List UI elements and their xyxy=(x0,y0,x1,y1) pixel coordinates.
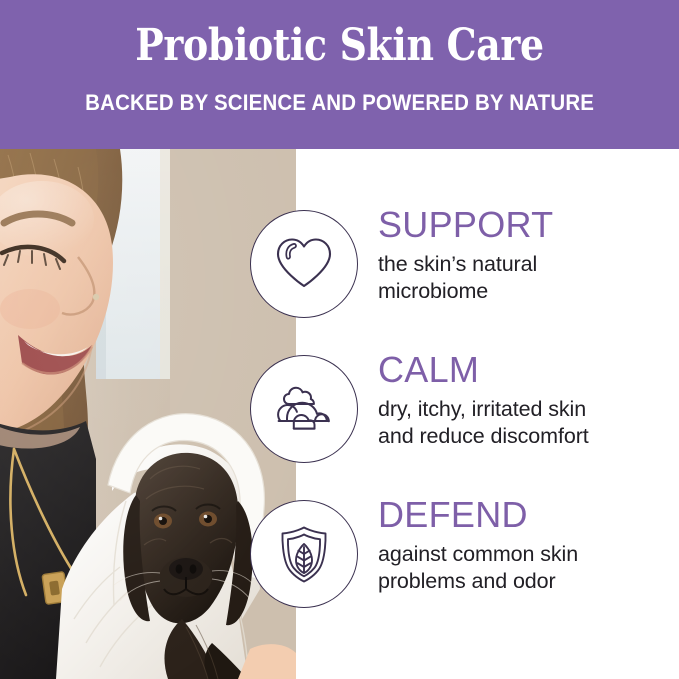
feature-support-text: SUPPORT the skin’s natural microbiome xyxy=(378,206,674,306)
feature-support-body-line-1: the skin’s natural xyxy=(378,251,674,279)
product-infographic: Probiotic Skin Care BACKED BY SCIENCE AN… xyxy=(0,0,679,679)
feature-calm-body-line-2: and reduce discomfort xyxy=(378,423,674,451)
feature-support-body: the skin’s natural microbiome xyxy=(378,251,674,306)
feature-calm-body-line-1: dry, itchy, irritated skin xyxy=(378,396,674,424)
shield-leaf-icon xyxy=(250,500,358,608)
feature-calm-text: CALM dry, itchy, irritated skin and redu… xyxy=(378,351,674,451)
heart-icon xyxy=(250,210,358,318)
feature-calm: CALM dry, itchy, irritated skin and redu… xyxy=(0,345,679,465)
feature-calm-body: dry, itchy, irritated skin and reduce di… xyxy=(378,396,674,451)
feature-defend-body: against common skin problems and odor xyxy=(378,541,674,596)
feature-support-body-line-2: microbiome xyxy=(378,278,674,306)
feature-defend: DEFEND against common skin problems and … xyxy=(0,490,679,610)
feature-calm-heading: CALM xyxy=(378,351,674,390)
feature-support: SUPPORT the skin’s natural microbiome xyxy=(0,200,679,320)
clouds-icon xyxy=(250,355,358,463)
feature-defend-heading: DEFEND xyxy=(378,496,674,535)
header-subtitle: BACKED BY SCIENCE AND POWERED BY NATURE xyxy=(85,92,594,114)
feature-defend-body-line-2: problems and odor xyxy=(378,568,674,596)
feature-defend-text: DEFEND against common skin problems and … xyxy=(378,496,674,596)
header-banner: Probiotic Skin Care BACKED BY SCIENCE AN… xyxy=(0,0,679,149)
page-title: Probiotic Skin Care xyxy=(135,24,543,68)
feature-defend-body-line-1: against common skin xyxy=(378,541,674,569)
feature-support-heading: SUPPORT xyxy=(378,206,674,245)
